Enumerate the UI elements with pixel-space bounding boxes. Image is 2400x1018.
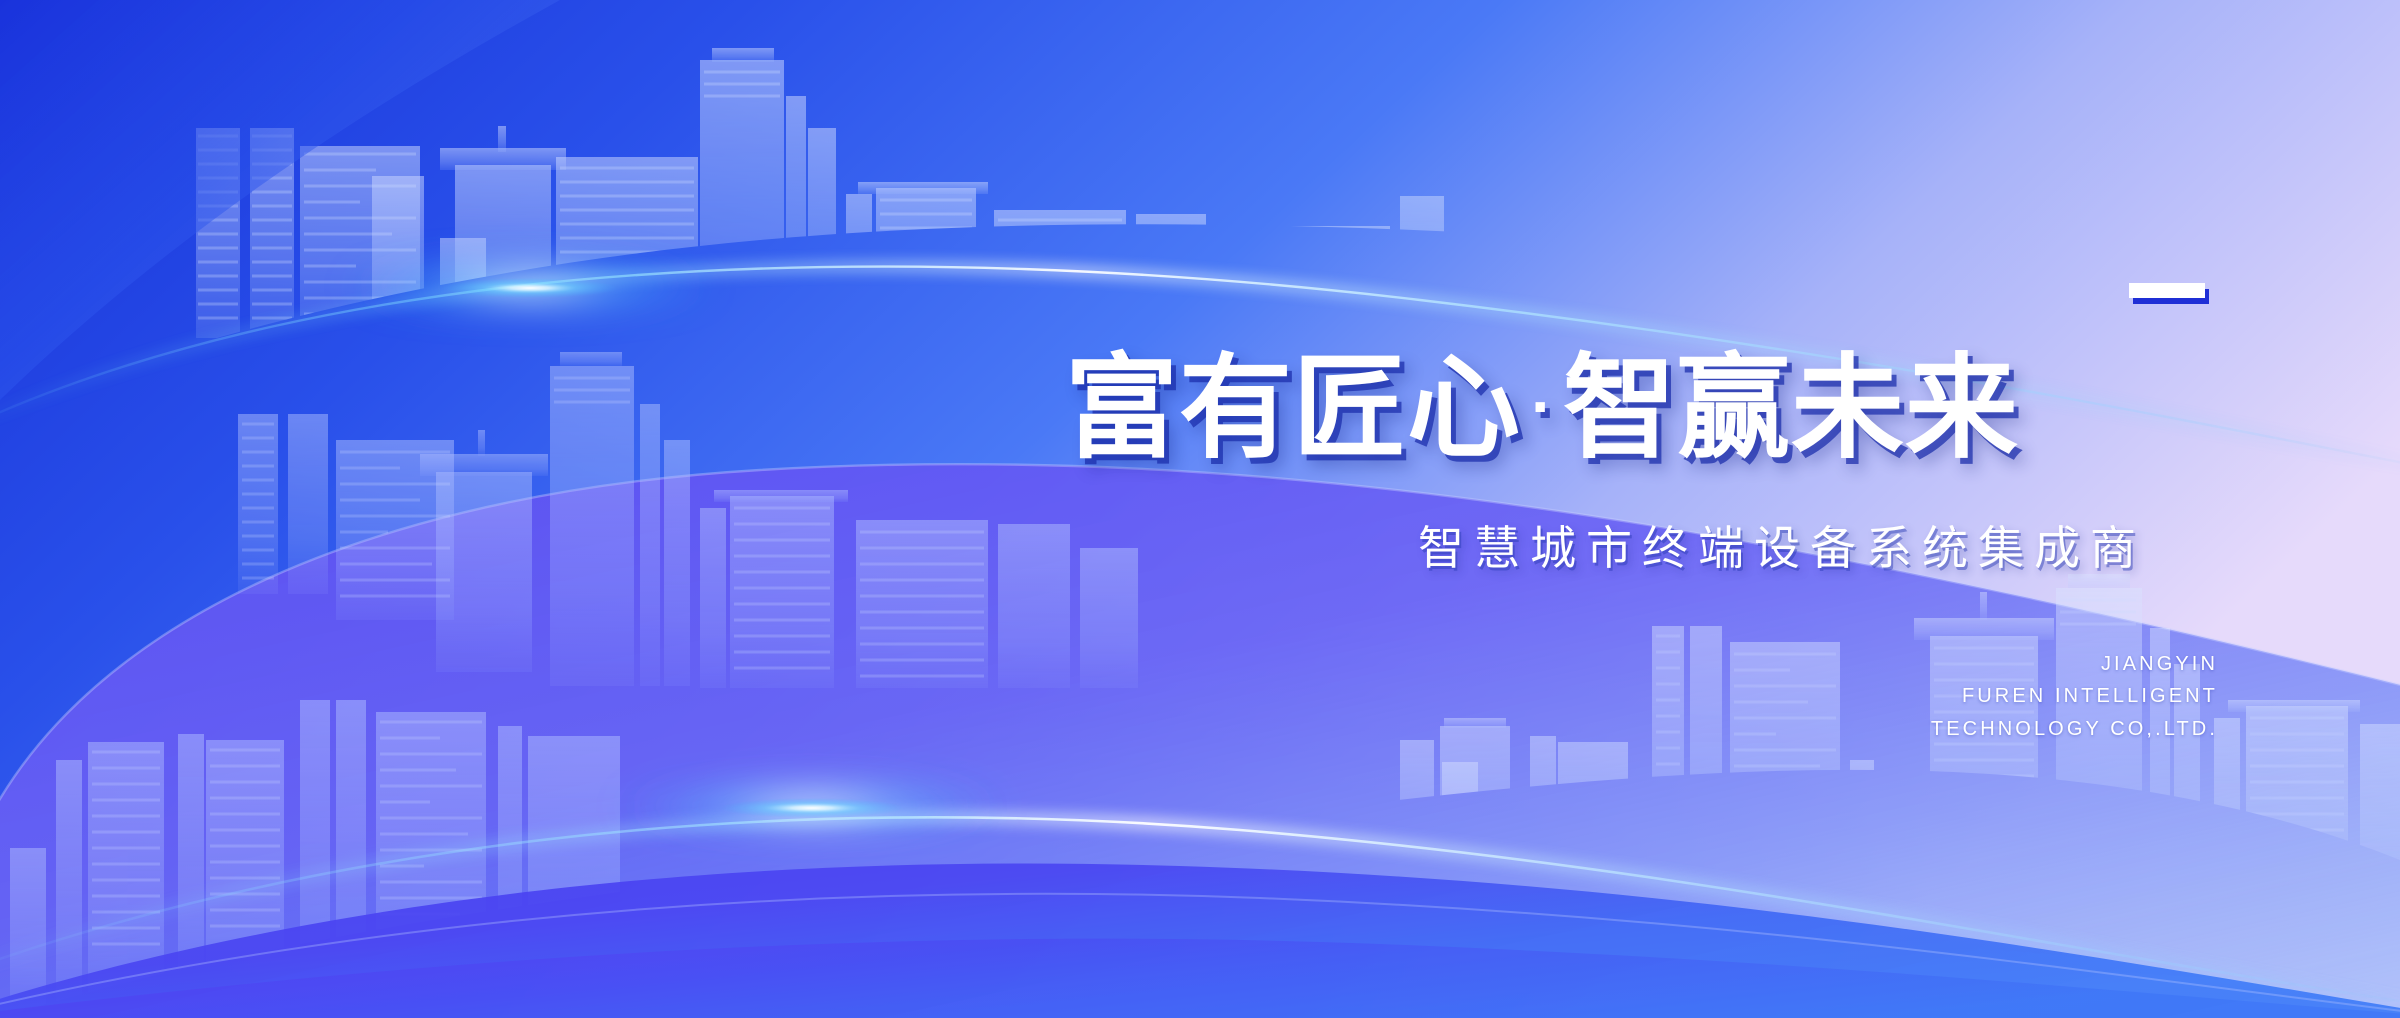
headline-separator-dot: · [1531, 369, 1553, 443]
banner-canvas: 富有匠心·智赢未来 智慧城市终端设备系统集成商 JIANGYIN FUREN I… [0, 0, 2400, 1018]
decorative-stroke-mark [2129, 283, 2205, 298]
company-name-block: JIANGYIN FUREN INTELLIGENT TECHNOLOGY CO… [1931, 648, 2218, 745]
headline-part-two: 智赢未来 [1563, 345, 2019, 471]
company-line-2: FUREN INTELLIGENT [1931, 680, 2218, 712]
headline: 富有匠心·智赢未来 [1065, 352, 2019, 465]
background-artwork [0, 0, 2400, 1018]
company-line-1: JIANGYIN [1931, 648, 2218, 680]
subtitle: 智慧城市终端设备系统集成商 [1418, 512, 2146, 578]
company-line-3: TECHNOLOGY CO,.LTD. [1931, 713, 2218, 745]
headline-part-one: 富有匠心 [1065, 345, 1521, 471]
